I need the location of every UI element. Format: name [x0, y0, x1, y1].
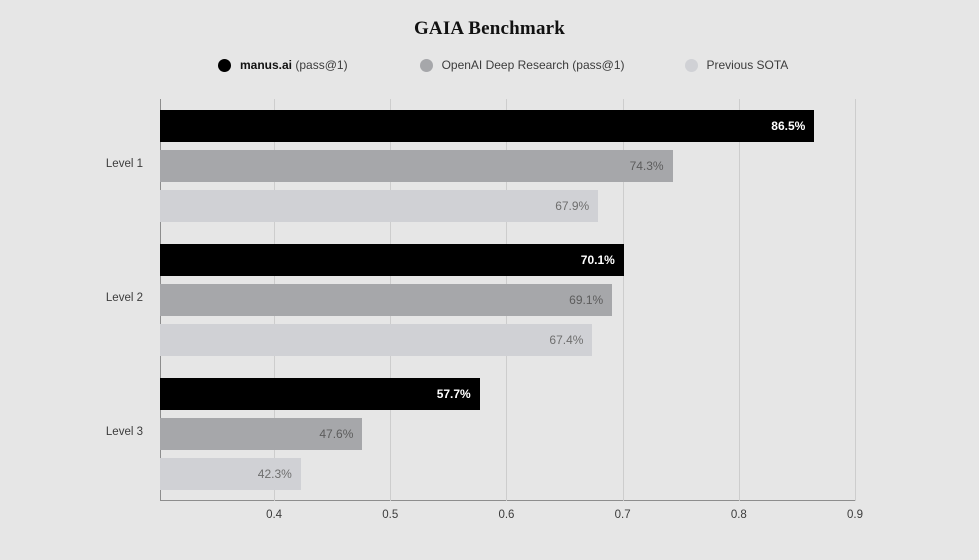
- bar-value-label: 69.1%: [569, 293, 603, 307]
- bar-group: 57.7%47.6%Level 342.3%: [160, 367, 855, 501]
- bar-row: 86.5%: [160, 110, 855, 142]
- bar-level-1-series-2[interactable]: 67.9%: [160, 190, 598, 222]
- bar-level-3-series-1[interactable]: 47.6%: [160, 418, 362, 450]
- bar-group: 70.1%69.1%Level 267.4%: [160, 233, 855, 367]
- gaia-benchmark-chart: GAIA Benchmark manus.ai (pass@1)OpenAI D…: [0, 0, 979, 560]
- bar-level-1-series-0[interactable]: 86.5%: [160, 110, 814, 142]
- legend-label: OpenAI Deep Research (pass@1): [442, 58, 625, 72]
- x-tick-label: 0.5: [382, 509, 398, 521]
- chart-legend: manus.ai (pass@1)OpenAI Deep Research (p…: [218, 58, 788, 72]
- x-tick-label: 0.4: [266, 509, 282, 521]
- bar-level-2-series-1[interactable]: 69.1%: [160, 284, 612, 316]
- bar-value-label: 42.3%: [258, 467, 292, 481]
- bar-value-label: 70.1%: [581, 253, 615, 267]
- bar-level-3-series-2[interactable]: 42.3%: [160, 458, 301, 490]
- legend-label: manus.ai (pass@1): [240, 58, 348, 72]
- legend-item-1[interactable]: OpenAI Deep Research (pass@1): [420, 58, 625, 72]
- bar-value-label: 47.6%: [319, 427, 353, 441]
- bar-value-label: 86.5%: [771, 119, 805, 133]
- legend-item-2[interactable]: Previous SOTA: [685, 58, 789, 72]
- x-tick-label: 0.8: [731, 509, 747, 521]
- x-tick-label: 0.6: [498, 509, 514, 521]
- bar-row: 42.3%: [160, 458, 855, 490]
- bar-value-label: 57.7%: [437, 387, 471, 401]
- x-tick-label: 0.7: [615, 509, 631, 521]
- category-label: Level 3: [106, 426, 143, 438]
- bar-row: 74.3%: [160, 150, 855, 182]
- category-label: Level 1: [106, 158, 143, 170]
- bar-group: 86.5%74.3%Level 167.9%: [160, 99, 855, 233]
- bar-row: 67.4%: [160, 324, 855, 356]
- gridline: [855, 99, 856, 501]
- x-tick-label: 0.9: [847, 509, 863, 521]
- bar-level-2-series-0[interactable]: 70.1%: [160, 244, 624, 276]
- legend-swatch-icon: [420, 59, 433, 72]
- bar-value-label: 74.3%: [630, 159, 664, 173]
- bar-row: 70.1%: [160, 244, 855, 276]
- bar-level-1-series-1[interactable]: 74.3%: [160, 150, 673, 182]
- bar-row: 69.1%: [160, 284, 855, 316]
- legend-label: Previous SOTA: [707, 58, 789, 72]
- bar-row: 67.9%: [160, 190, 855, 222]
- bar-value-label: 67.4%: [549, 333, 583, 347]
- bar-level-2-series-2[interactable]: 67.4%: [160, 324, 592, 356]
- chart-title: GAIA Benchmark: [0, 18, 979, 40]
- category-label: Level 2: [106, 292, 143, 304]
- legend-swatch-icon: [218, 59, 231, 72]
- legend-item-0[interactable]: manus.ai (pass@1): [218, 58, 348, 72]
- bar-level-3-series-0[interactable]: 57.7%: [160, 378, 480, 410]
- bar-row: 47.6%: [160, 418, 855, 450]
- legend-swatch-icon: [685, 59, 698, 72]
- plot-area: 0.40.50.60.70.80.986.5%74.3%Level 167.9%…: [160, 99, 855, 501]
- bar-row: 57.7%: [160, 378, 855, 410]
- bar-value-label: 67.9%: [555, 199, 589, 213]
